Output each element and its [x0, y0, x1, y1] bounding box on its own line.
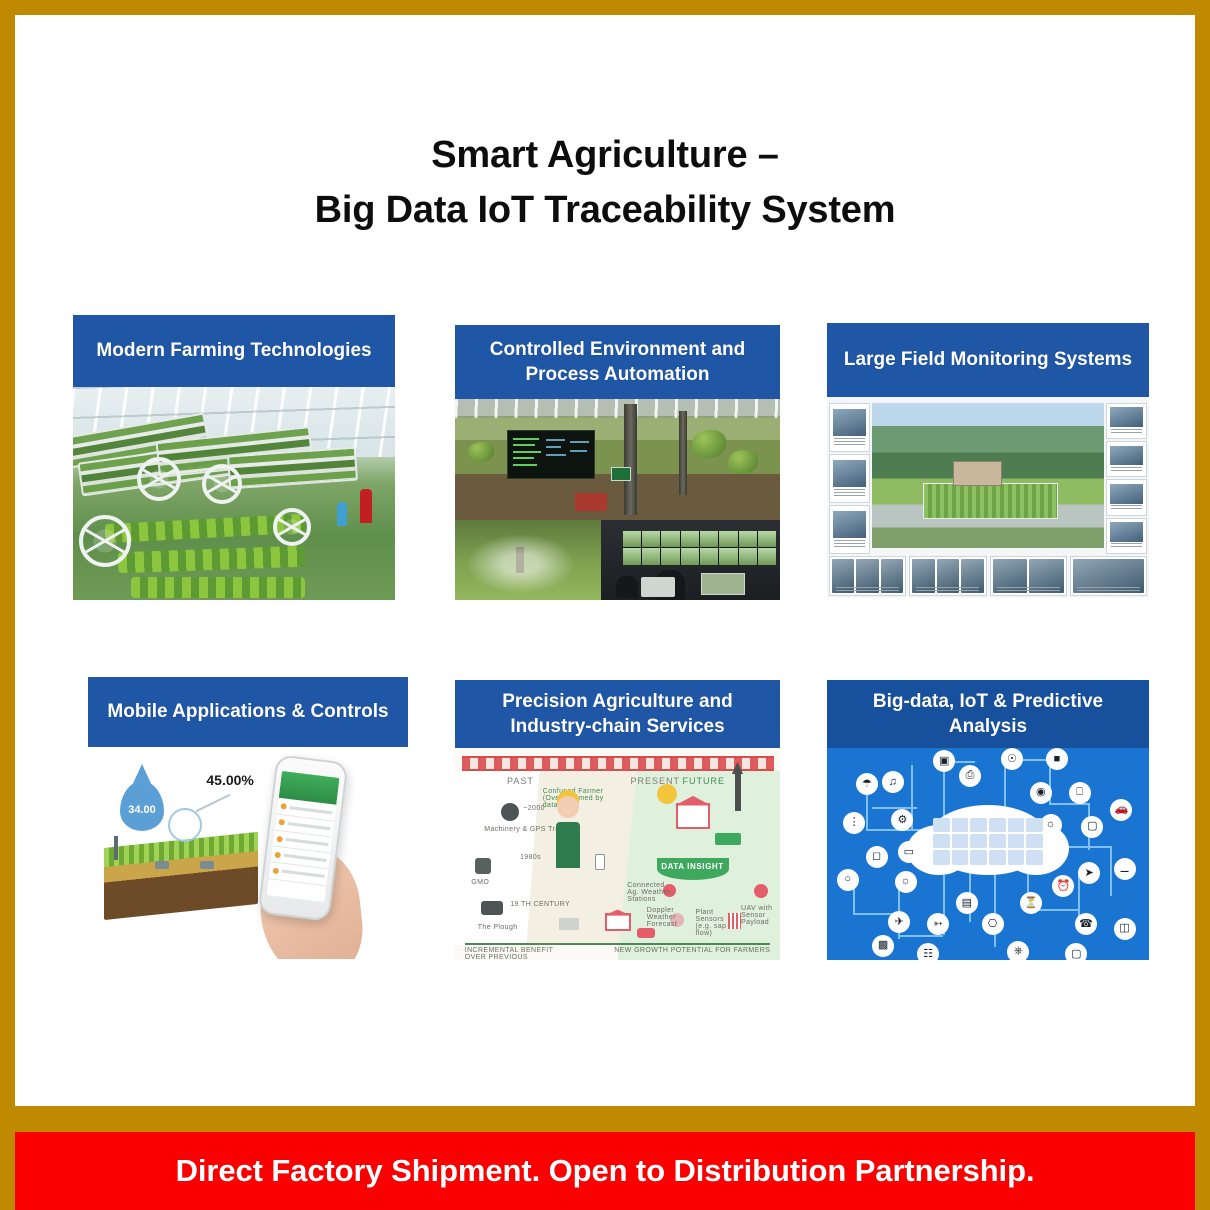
- panel-photo: [1073, 559, 1144, 593]
- label-uav: UAV with Sensor Payload: [741, 905, 775, 926]
- board-line: [513, 457, 534, 459]
- app-row-line: [289, 805, 333, 813]
- sprinkler-head-icon: [155, 861, 169, 869]
- gmo-icon: [475, 858, 491, 874]
- aerial-farm-view: [872, 403, 1104, 548]
- right-panel-column: [1106, 403, 1148, 554]
- soil-block-diagram: [104, 832, 258, 920]
- status-dot-icon: [278, 819, 285, 826]
- airplane-icon: ✈: [888, 911, 910, 933]
- glasses-icon: ☼: [1040, 814, 1062, 836]
- video-wall: [623, 531, 777, 565]
- power-icon: ⎈: [1007, 941, 1029, 960]
- label-confused-farmer: Confused Farmer (Overwhelmed by data): [543, 788, 615, 809]
- cloud-service-icon: [952, 834, 969, 848]
- panel-cell: [1106, 518, 1148, 554]
- label-weather-stations: Connected Ag. Weather Stations: [627, 882, 671, 903]
- drill-icon: ➳: [927, 913, 949, 935]
- wall-screen: [681, 548, 699, 564]
- microphone-icon: ☉: [1001, 748, 1023, 770]
- controller-icon: ☷: [917, 943, 939, 960]
- page-title-line-2: Big Data IoT Traceability System: [15, 183, 1195, 238]
- wall-screen: [642, 548, 660, 564]
- sun-icon: [657, 784, 677, 804]
- sprinkler-icon: [516, 547, 524, 573]
- board-line: [513, 451, 540, 453]
- gps-tracking-icon: [501, 803, 519, 821]
- controlled-environment-illustration: [455, 399, 780, 600]
- video-camera-icon: ▣: [933, 750, 955, 772]
- panel-cell: [990, 556, 1067, 596]
- support-post: [679, 411, 687, 495]
- water-tower-icon: [735, 773, 741, 811]
- uav-icon: [754, 884, 768, 898]
- panel-photo: [833, 511, 866, 538]
- panel-photo: [937, 559, 959, 593]
- droplet-value: 34.00: [128, 804, 156, 816]
- cloud-service-icon: [933, 818, 950, 832]
- wall-screen: [719, 548, 737, 564]
- cloud-service-icon: [970, 818, 987, 832]
- farmer-figure: [556, 822, 580, 868]
- cloud-service-icon: [989, 834, 1006, 848]
- cloud-service-icon: [952, 850, 969, 864]
- person-figure: [360, 489, 372, 523]
- board-line: [570, 450, 587, 452]
- panel-cell: [1070, 556, 1147, 596]
- remote-control-icon: ■: [1046, 748, 1068, 770]
- sensor-box: [611, 467, 631, 481]
- panel-photo: [1110, 484, 1143, 504]
- iot-network-diagram: ☂ ♫ ▣ ⎙ ☉ ■ ◉ ⎕ 🚗 ⋮ ⚙ ☼ ▢ ◻ ▭ ⚊ ○ ☼ ➤ ⏰: [827, 748, 1149, 960]
- panel-cell: [1106, 479, 1148, 515]
- leaf-icon: [728, 450, 758, 474]
- light-bulb-icon: ☼: [895, 871, 917, 893]
- wheel-icon: [79, 515, 131, 567]
- card-image-mobile-applications-controls: 34.00 45.00%: [88, 747, 408, 959]
- label-plough: The Plough: [478, 924, 518, 931]
- panel-photo: [833, 409, 866, 436]
- panel-photo: [832, 559, 854, 593]
- panel-cell: [1106, 403, 1148, 439]
- card-image-controlled-environment-process-automation: [455, 399, 780, 600]
- wall-screen: [661, 548, 679, 564]
- panel-photo: [856, 559, 878, 593]
- cow-icon: [637, 928, 655, 938]
- app-row-line: [287, 821, 331, 829]
- panel-caption: [1111, 467, 1143, 472]
- card-image-precision-agriculture-industry-chain-services: PAST PRESENT FUTURE Machinery & GPS Trac…: [455, 748, 780, 960]
- label-machinery-year: ~2000: [523, 805, 545, 812]
- lamp-icon: ☂: [856, 773, 878, 795]
- panel-caption: [834, 540, 866, 548]
- network-link: [866, 829, 918, 831]
- board-line: [513, 438, 539, 440]
- card-large-field-monitoring-systems[interactable]: Large Field Monitoring Systems: [827, 323, 1149, 598]
- cloud-service-icon: [989, 818, 1006, 832]
- panel-caption: [1111, 543, 1143, 548]
- hair-dryer-icon: ➤: [1078, 862, 1100, 884]
- monitor-icon: ⎕: [1069, 782, 1091, 804]
- panel-caption: [1111, 429, 1143, 434]
- panel-photo: [881, 559, 903, 593]
- card-controlled-environment-process-automation[interactable]: Controlled Environment and Process Autom…: [455, 325, 780, 600]
- speaker-icon: ▤: [956, 892, 978, 914]
- mobile-phone-icon: ▭: [898, 841, 920, 863]
- printer-icon: ⎙: [959, 765, 981, 787]
- irrigation-sprinkler-scene: [455, 520, 601, 600]
- cloud-service-icon: [970, 850, 987, 864]
- cloud-service-icon: [970, 834, 987, 848]
- board-line: [546, 446, 561, 448]
- board-line: [513, 444, 535, 446]
- panel-cell: [829, 505, 871, 554]
- card-header-mobile-applications-controls: Mobile Applications & Controls: [88, 677, 408, 747]
- wall-screen: [739, 531, 757, 547]
- sensor-value: 45.00%: [206, 772, 253, 788]
- headphones-icon: ♫: [882, 771, 904, 793]
- car-icon: 🚗: [1110, 799, 1132, 821]
- operator-monitor: [641, 577, 675, 597]
- cloud-service-icon: [1008, 850, 1025, 864]
- label-doppler: Doppler Weather Forecast: [647, 907, 685, 928]
- tractor-icon: [715, 833, 741, 845]
- refrigerator-icon: ▢: [1081, 816, 1103, 838]
- farmhouse-icon: [676, 803, 710, 829]
- usb-icon: ⚊: [1114, 858, 1136, 880]
- card-precision-agriculture-industry-chain-services[interactable]: Precision Agriculture and Industry-chain…: [455, 680, 780, 960]
- app-row-line: [281, 870, 325, 878]
- farmer-legs: [559, 918, 579, 930]
- cloud-service-icon: [933, 850, 950, 864]
- board-line: [570, 441, 589, 443]
- board-line: [546, 454, 567, 456]
- plough-icon: [481, 901, 503, 915]
- lettuce-row: [118, 546, 305, 574]
- wall-screen: [700, 548, 718, 564]
- status-dot-icon: [276, 835, 283, 842]
- smartphone-icon: [595, 854, 605, 870]
- data-insight-bowl: DATA INSIGHT: [657, 858, 729, 880]
- wall-screen: [700, 531, 718, 547]
- status-dot-icon: [280, 803, 287, 810]
- section-label-past: PAST: [507, 776, 534, 786]
- panel-caption: [834, 438, 866, 446]
- promo-banner-text: Direct Factory Shipment. Open to Distrib…: [176, 1153, 1035, 1189]
- panel-photo: [961, 559, 983, 593]
- card-header-large-field-monitoring-systems: Large Field Monitoring Systems: [827, 323, 1149, 397]
- panel-photo: [1110, 446, 1143, 466]
- cloud-service-icon: [1008, 834, 1025, 848]
- water-droplet-icon: 34.00: [120, 781, 164, 831]
- card-image-large-field-monitoring-systems: [827, 397, 1149, 598]
- cloud-service-icon: [952, 818, 969, 832]
- greenhouse-scene: [455, 399, 780, 520]
- panel-photo: [1029, 559, 1064, 593]
- fence-graphic: [462, 756, 774, 771]
- wall-screen: [739, 548, 757, 564]
- label-gmo: GMO: [471, 879, 489, 886]
- phone-screen[interactable]: [267, 771, 340, 902]
- page-title: Smart Agriculture – Big Data IoT Traceab…: [15, 128, 1195, 238]
- wall-screen: [623, 548, 641, 564]
- operator-monitor: [701, 573, 745, 595]
- panel-cell: [829, 403, 871, 452]
- label-gmo-year: 1980s: [520, 854, 541, 861]
- status-dot-icon: [274, 851, 281, 858]
- camera-icon: ◻: [866, 846, 888, 868]
- callout-line: [195, 794, 230, 812]
- app-row-line: [285, 838, 329, 846]
- compass-icon: ○: [837, 869, 859, 891]
- panel-cell: [829, 556, 906, 596]
- network-link: [872, 807, 917, 809]
- agriculture-timeline-infographic: PAST PRESENT FUTURE Machinery & GPS Trac…: [455, 748, 780, 960]
- sprinkler-head-icon: [200, 861, 214, 869]
- card-image-big-data-iot-predictive-analysis: ☂ ♫ ▣ ⎙ ☉ ■ ◉ ⎕ 🚗 ⋮ ⚙ ☼ ▢ ◻ ▭ ⚊ ○ ☼ ➤ ⏰: [827, 748, 1149, 960]
- wall-screen: [623, 531, 641, 547]
- cloud-service-icon: [1026, 818, 1043, 832]
- left-panel-column: [829, 403, 871, 554]
- axis-label-right: NEW GROWTH POTENTIAL FOR FARMERS: [614, 947, 770, 954]
- card-big-data-iot-predictive-analysis[interactable]: Big-data, IoT & Predictive Analysis: [827, 680, 1149, 960]
- valve-post-icon: [114, 836, 118, 860]
- mobile-irrigation-illustration: 34.00 45.00%: [88, 747, 408, 959]
- control-room-scene: [601, 520, 780, 600]
- panel-photo: [912, 559, 934, 593]
- leaf-icon: [468, 442, 494, 462]
- cloud-service-icon: [989, 850, 1006, 864]
- wall-screen: [719, 531, 737, 547]
- section-label-future: FUTURE: [683, 776, 726, 786]
- card-modern-farming-technologies[interactable]: Modern Farming Technologies: [73, 315, 395, 600]
- axis-label-left: INCREMENTAL BENEFIT OVER PREVIOUS GENERA…: [465, 947, 555, 960]
- card-mobile-applications-controls[interactable]: Mobile Applications & Controls 34.00 45.…: [88, 677, 408, 959]
- laptop-icon: ◫: [1114, 918, 1136, 940]
- panel-cell: [829, 454, 871, 503]
- cloud-service-icon: [933, 834, 950, 848]
- poster-root: Smart Agriculture – Big Data IoT Traceab…: [0, 0, 1210, 1210]
- panel-cell: [1106, 441, 1148, 477]
- wall-screen: [758, 531, 776, 547]
- operator-figure: [616, 576, 638, 598]
- app-row-line: [283, 854, 327, 862]
- tool-icon: ⋮: [843, 812, 865, 834]
- panel-cell: [909, 556, 986, 596]
- tablet-icon: ⎔: [982, 913, 1004, 935]
- cloud-service-icon: [1026, 834, 1043, 848]
- wall-screen: [758, 548, 776, 564]
- card-header-modern-farming-technologies: Modern Farming Technologies: [73, 315, 395, 387]
- barn-icon: [605, 913, 631, 931]
- panel-caption: [1111, 505, 1143, 510]
- page-title-line-1: Smart Agriculture –: [15, 128, 1195, 183]
- lettuce-row: [131, 577, 305, 598]
- wall-screen: [642, 531, 660, 547]
- greenhouse-illustration: [73, 387, 395, 600]
- cloud-service-icon: [1008, 818, 1025, 832]
- card-header-controlled-environment-process-automation: Controlled Environment and Process Autom…: [455, 325, 780, 399]
- section-label-present: PRESENT: [631, 776, 681, 786]
- label-plough-year: 19 TH CENTURY: [510, 901, 570, 908]
- washing-machine-icon: ◉: [1030, 782, 1052, 804]
- television-icon: ▩: [872, 935, 894, 957]
- smart-watch-icon: ⏰: [1052, 875, 1074, 897]
- board-line: [546, 439, 565, 441]
- panel-photo: [1110, 522, 1143, 542]
- panel-photo: [833, 460, 866, 487]
- panel-photo: [1110, 407, 1143, 427]
- card-header-big-data-iot-predictive-analysis: Big-data, IoT & Predictive Analysis: [827, 680, 1149, 748]
- card-image-modern-farming-technologies: [73, 387, 395, 600]
- person-figure: [337, 502, 347, 526]
- field-monitoring-infographic: [827, 397, 1149, 598]
- wall-screen: [661, 531, 679, 547]
- timeline-axis: [465, 943, 771, 945]
- support-post: [624, 404, 637, 515]
- promo-banner: Direct Factory Shipment. Open to Distrib…: [15, 1132, 1195, 1210]
- wheel-icon: [202, 464, 242, 504]
- leaf-icon: [692, 430, 726, 458]
- bottom-panel-row: [829, 556, 1148, 596]
- gold-divider: [15, 1106, 1195, 1132]
- device-icon: ▢: [1065, 943, 1087, 960]
- wheel-icon: [137, 457, 181, 501]
- wall-screen: [681, 531, 699, 547]
- telephone-icon: ☎: [1075, 913, 1097, 935]
- network-link: [994, 871, 996, 947]
- panel-caption: [834, 489, 866, 497]
- wheel-icon: [273, 508, 311, 546]
- network-link: [1110, 846, 1112, 897]
- cloud-services-grid: [933, 818, 1042, 865]
- cloud-service-icon: [1026, 850, 1043, 864]
- status-dot-icon: [272, 867, 279, 874]
- card-header-precision-agriculture-industry-chain-services: Precision Agriculture and Industry-chain…: [455, 680, 780, 748]
- board-line: [513, 464, 537, 466]
- equipment-bin: [575, 493, 607, 511]
- data-display-board: [507, 430, 595, 478]
- label-plant-sensors: Plant Sensors (e.g. sap flow): [696, 909, 732, 937]
- panel-photo: [993, 559, 1028, 593]
